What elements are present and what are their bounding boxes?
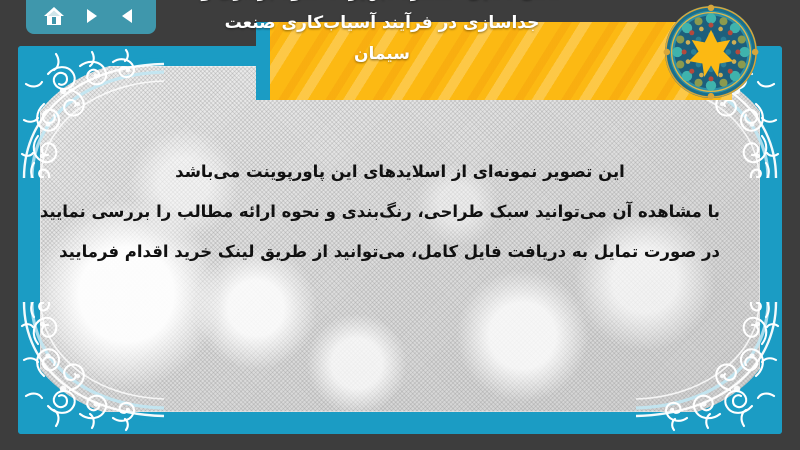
persian-mandala-medallion-icon: [663, 4, 759, 100]
back-triangle-icon[interactable]: [115, 3, 141, 29]
forward-triangle-icon[interactable]: [78, 3, 104, 29]
slide-content-area: این تصویر نمونه‌ای از اسلایدهای این پاور…: [40, 66, 760, 412]
body-line-1: این تصویر نمونه‌ای از اسلایدهای این پاور…: [80, 152, 720, 192]
home-icon[interactable]: [41, 3, 67, 29]
slide-frame: این تصویر نمونه‌ای از اسلایدهای این پاور…: [18, 46, 782, 434]
body-line-3: در صورت تمایل به دریافت فایل کامل، می‌تو…: [80, 232, 720, 272]
slide-body-text: این تصویر نمونه‌ای از اسلایدهای این پاور…: [80, 152, 720, 272]
banner-left-tab: [256, 22, 270, 100]
navigation-bar: [26, 0, 156, 34]
slide-stage: این تصویر نمونه‌ای از اسلایدهای این پاور…: [0, 0, 800, 450]
body-line-2: با مشاهده آن می‌توانید سبک طراحی، رنگ‌بن…: [80, 192, 720, 232]
title-banner: [256, 22, 732, 100]
